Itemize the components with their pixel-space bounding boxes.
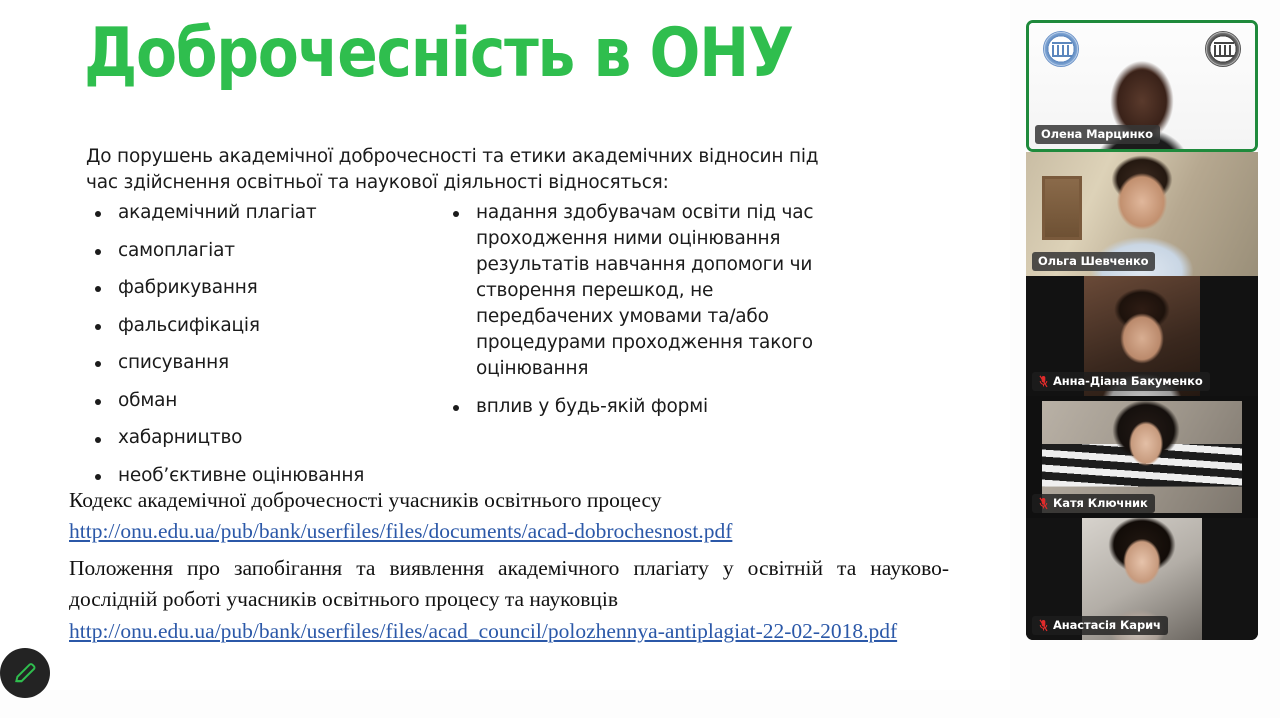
list-item: самоплагіат <box>86 238 426 264</box>
participant-tile[interactable]: Анастасія Карич <box>1026 518 1258 640</box>
mic-muted-icon <box>1038 619 1049 632</box>
list-item-label: фальсифікація <box>118 315 260 336</box>
participant-name: Катя Ключник <box>1053 496 1148 510</box>
participant-name-badge: Олена Марцинко <box>1035 125 1160 144</box>
bullet-dot-icon <box>95 286 101 292</box>
shared-slide: Доброчесність в ОНУ До порушень академіч… <box>0 0 1010 690</box>
participant-tile[interactable]: Ольга Шевченко <box>1026 152 1258 276</box>
document-link[interactable]: http://onu.edu.ua/pub/bank/userfiles/fil… <box>69 616 949 647</box>
list-item: фальсифікація <box>86 313 426 339</box>
bullet-dot-icon <box>453 211 459 217</box>
bullet-dot-icon <box>95 437 101 443</box>
mic-muted-icon <box>1038 497 1049 510</box>
participant-video-panel: Олена Марцинко Ольга Шевченко <box>1026 20 1258 640</box>
participant-name: Ольга Шевченко <box>1038 254 1148 268</box>
list-item-label: надання здобувачам освіти під час проход… <box>476 202 813 379</box>
list-item: списування <box>86 350 426 376</box>
list-item-label: необ’єктивне оцінювання <box>118 465 364 486</box>
list-item: фабрикування <box>86 275 426 301</box>
participant-tile-active-speaker[interactable]: Олена Марцинко <box>1026 20 1258 152</box>
participant-name-badge: Анастасія Карич <box>1032 616 1168 635</box>
violations-column-left: академічний плагіат самоплагіат фабрикув… <box>86 200 426 501</box>
bullet-list-left: академічний плагіат самоплагіат фабрикув… <box>86 200 426 489</box>
participant-name: Анастасія Карич <box>1053 618 1161 632</box>
list-item-label: вплив у будь-якій формі <box>476 396 708 417</box>
list-item-label: фабрикування <box>118 277 258 298</box>
list-item-label: академічний плагіат <box>118 202 317 223</box>
bullet-dot-icon <box>453 405 459 411</box>
participant-name: Олена Марцинко <box>1041 127 1153 141</box>
list-item: хабарництво <box>86 425 426 451</box>
document-title: Кодекс академічної доброчесності учасник… <box>69 488 662 512</box>
bullet-dot-icon <box>95 474 101 480</box>
list-item-label: хабарництво <box>118 427 242 448</box>
bullet-list-right: надання здобувачам освіти під час проход… <box>444 200 846 420</box>
participant-tile[interactable]: Катя Ключник <box>1026 396 1258 518</box>
violations-column-right: надання здобувачам освіти під час проход… <box>426 200 846 501</box>
participant-name: Анна-Діана Бакуменко <box>1053 374 1203 388</box>
document-title: Положення про запобігання та виявлення а… <box>69 556 949 611</box>
violations-list: академічний плагіат самоплагіат фабрикув… <box>86 200 956 501</box>
list-item-label: обман <box>118 390 177 411</box>
document-reference-2: Положення про запобігання та виявлення а… <box>69 553 949 647</box>
bullet-dot-icon <box>95 249 101 255</box>
bullet-dot-icon <box>95 324 101 330</box>
university-seal-icon <box>1043 31 1079 67</box>
list-item: надання здобувачам освіти під час проход… <box>444 200 846 383</box>
annotation-toolbar <box>0 648 180 718</box>
bullet-dot-icon <box>95 361 101 367</box>
list-item-label: самоплагіат <box>118 240 235 261</box>
document-link[interactable]: http://onu.edu.ua/pub/bank/userfiles/fil… <box>69 516 949 547</box>
participant-name-badge: Анна-Діана Бакуменко <box>1032 372 1210 391</box>
list-item: академічний плагіат <box>86 200 426 226</box>
list-item-label: списування <box>118 352 229 373</box>
participant-name-badge: Ольга Шевченко <box>1032 252 1155 271</box>
active-pen-tool-button[interactable] <box>0 648 50 698</box>
intro-paragraph: До порушень академічної доброчесності та… <box>86 144 846 197</box>
university-seal-icon <box>1205 31 1241 67</box>
list-item: обман <box>86 388 426 414</box>
mic-muted-icon <box>1038 375 1049 388</box>
presentation-screen: Доброчесність в ОНУ До порушень академіч… <box>0 0 1280 718</box>
participant-name-badge: Катя Ключник <box>1032 494 1155 513</box>
pen-icon <box>12 660 38 686</box>
bullet-dot-icon <box>95 211 101 217</box>
bullet-dot-icon <box>95 399 101 405</box>
document-reference-1: Кодекс академічної доброчесності учасник… <box>69 485 949 548</box>
page-title: Доброчесність в ОНУ <box>84 20 793 88</box>
participant-tile[interactable]: Анна-Діана Бакуменко <box>1026 276 1258 396</box>
list-item: вплив у будь-якій формі <box>444 394 846 420</box>
